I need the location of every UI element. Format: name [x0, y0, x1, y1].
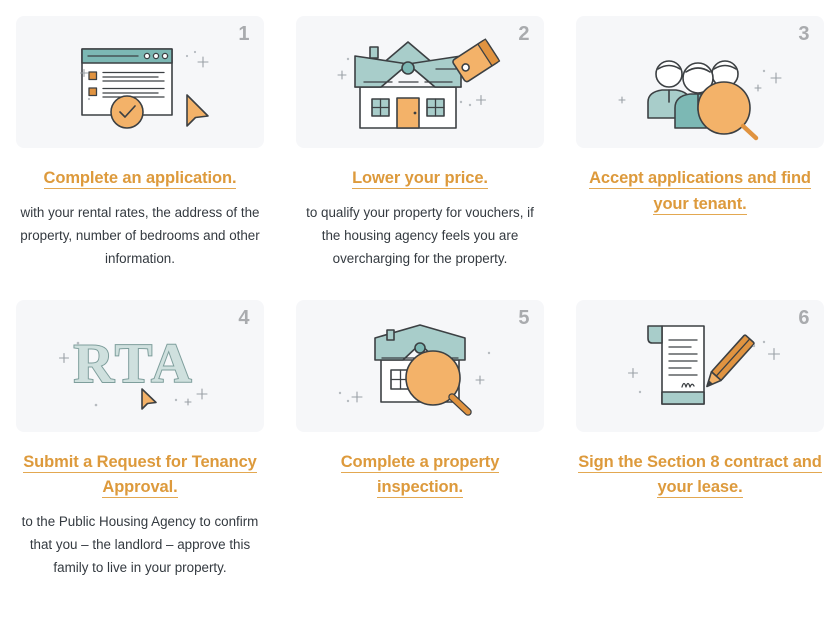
step-illustration-4: 4 RTA	[16, 300, 264, 432]
step-heading-5[interactable]: Complete a property inspection.	[296, 450, 544, 501]
people-magnifier-icon	[576, 16, 824, 148]
step-heading-1[interactable]: Complete an application.	[42, 166, 239, 192]
step-illustration-3: 3	[576, 16, 824, 148]
step-card-4: 4 RTA Submit a Request for Tenancy Appro…	[16, 300, 264, 579]
step-card-2: 2	[296, 16, 544, 270]
browser-form-checkmark-icon	[16, 16, 264, 148]
step-illustration-1: 1	[16, 16, 264, 148]
step-illustration-2: 2	[296, 16, 544, 148]
step-heading-2[interactable]: Lower your price.	[350, 166, 490, 192]
steps-grid: 1	[0, 0, 840, 579]
step-heading-4[interactable]: Submit a Request for Tenancy Approval.	[16, 450, 264, 501]
contract-pencil-icon	[576, 300, 824, 432]
step-heading-6[interactable]: Sign the Section 8 contract and your lea…	[576, 450, 824, 501]
rta-lettering-icon: RTA	[16, 300, 264, 432]
step-heading-text-5: Complete a property inspection.	[341, 453, 500, 499]
step-heading-text-1: Complete an application.	[44, 169, 237, 189]
step-heading-3[interactable]: Accept applications and find your tenant…	[576, 166, 824, 217]
step-card-5: 5	[296, 300, 544, 579]
step-body-1: with your rental rates, the address of t…	[16, 201, 264, 270]
step-heading-text-4: Submit a Request for Tenancy Approval.	[23, 453, 256, 499]
step-heading-text-2: Lower your price.	[352, 169, 488, 189]
step-card-3: 3	[576, 16, 824, 270]
house-magnifier-icon	[296, 300, 544, 432]
step-body-2: to qualify your property for vouchers, i…	[296, 201, 544, 270]
step-heading-text-3: Accept applications and find your tenant…	[589, 169, 811, 215]
step-body-4: to the Public Housing Agency to confirm …	[16, 510, 264, 579]
svg-text:RTA: RTA	[73, 333, 194, 395]
step-card-1: 1	[16, 16, 264, 270]
step-illustration-5: 5	[296, 300, 544, 432]
step-illustration-6: 6	[576, 300, 824, 432]
step-card-6: 6	[576, 300, 824, 579]
step-heading-text-6: Sign the Section 8 contract and your lea…	[578, 453, 822, 499]
house-price-tag-icon	[296, 16, 544, 148]
